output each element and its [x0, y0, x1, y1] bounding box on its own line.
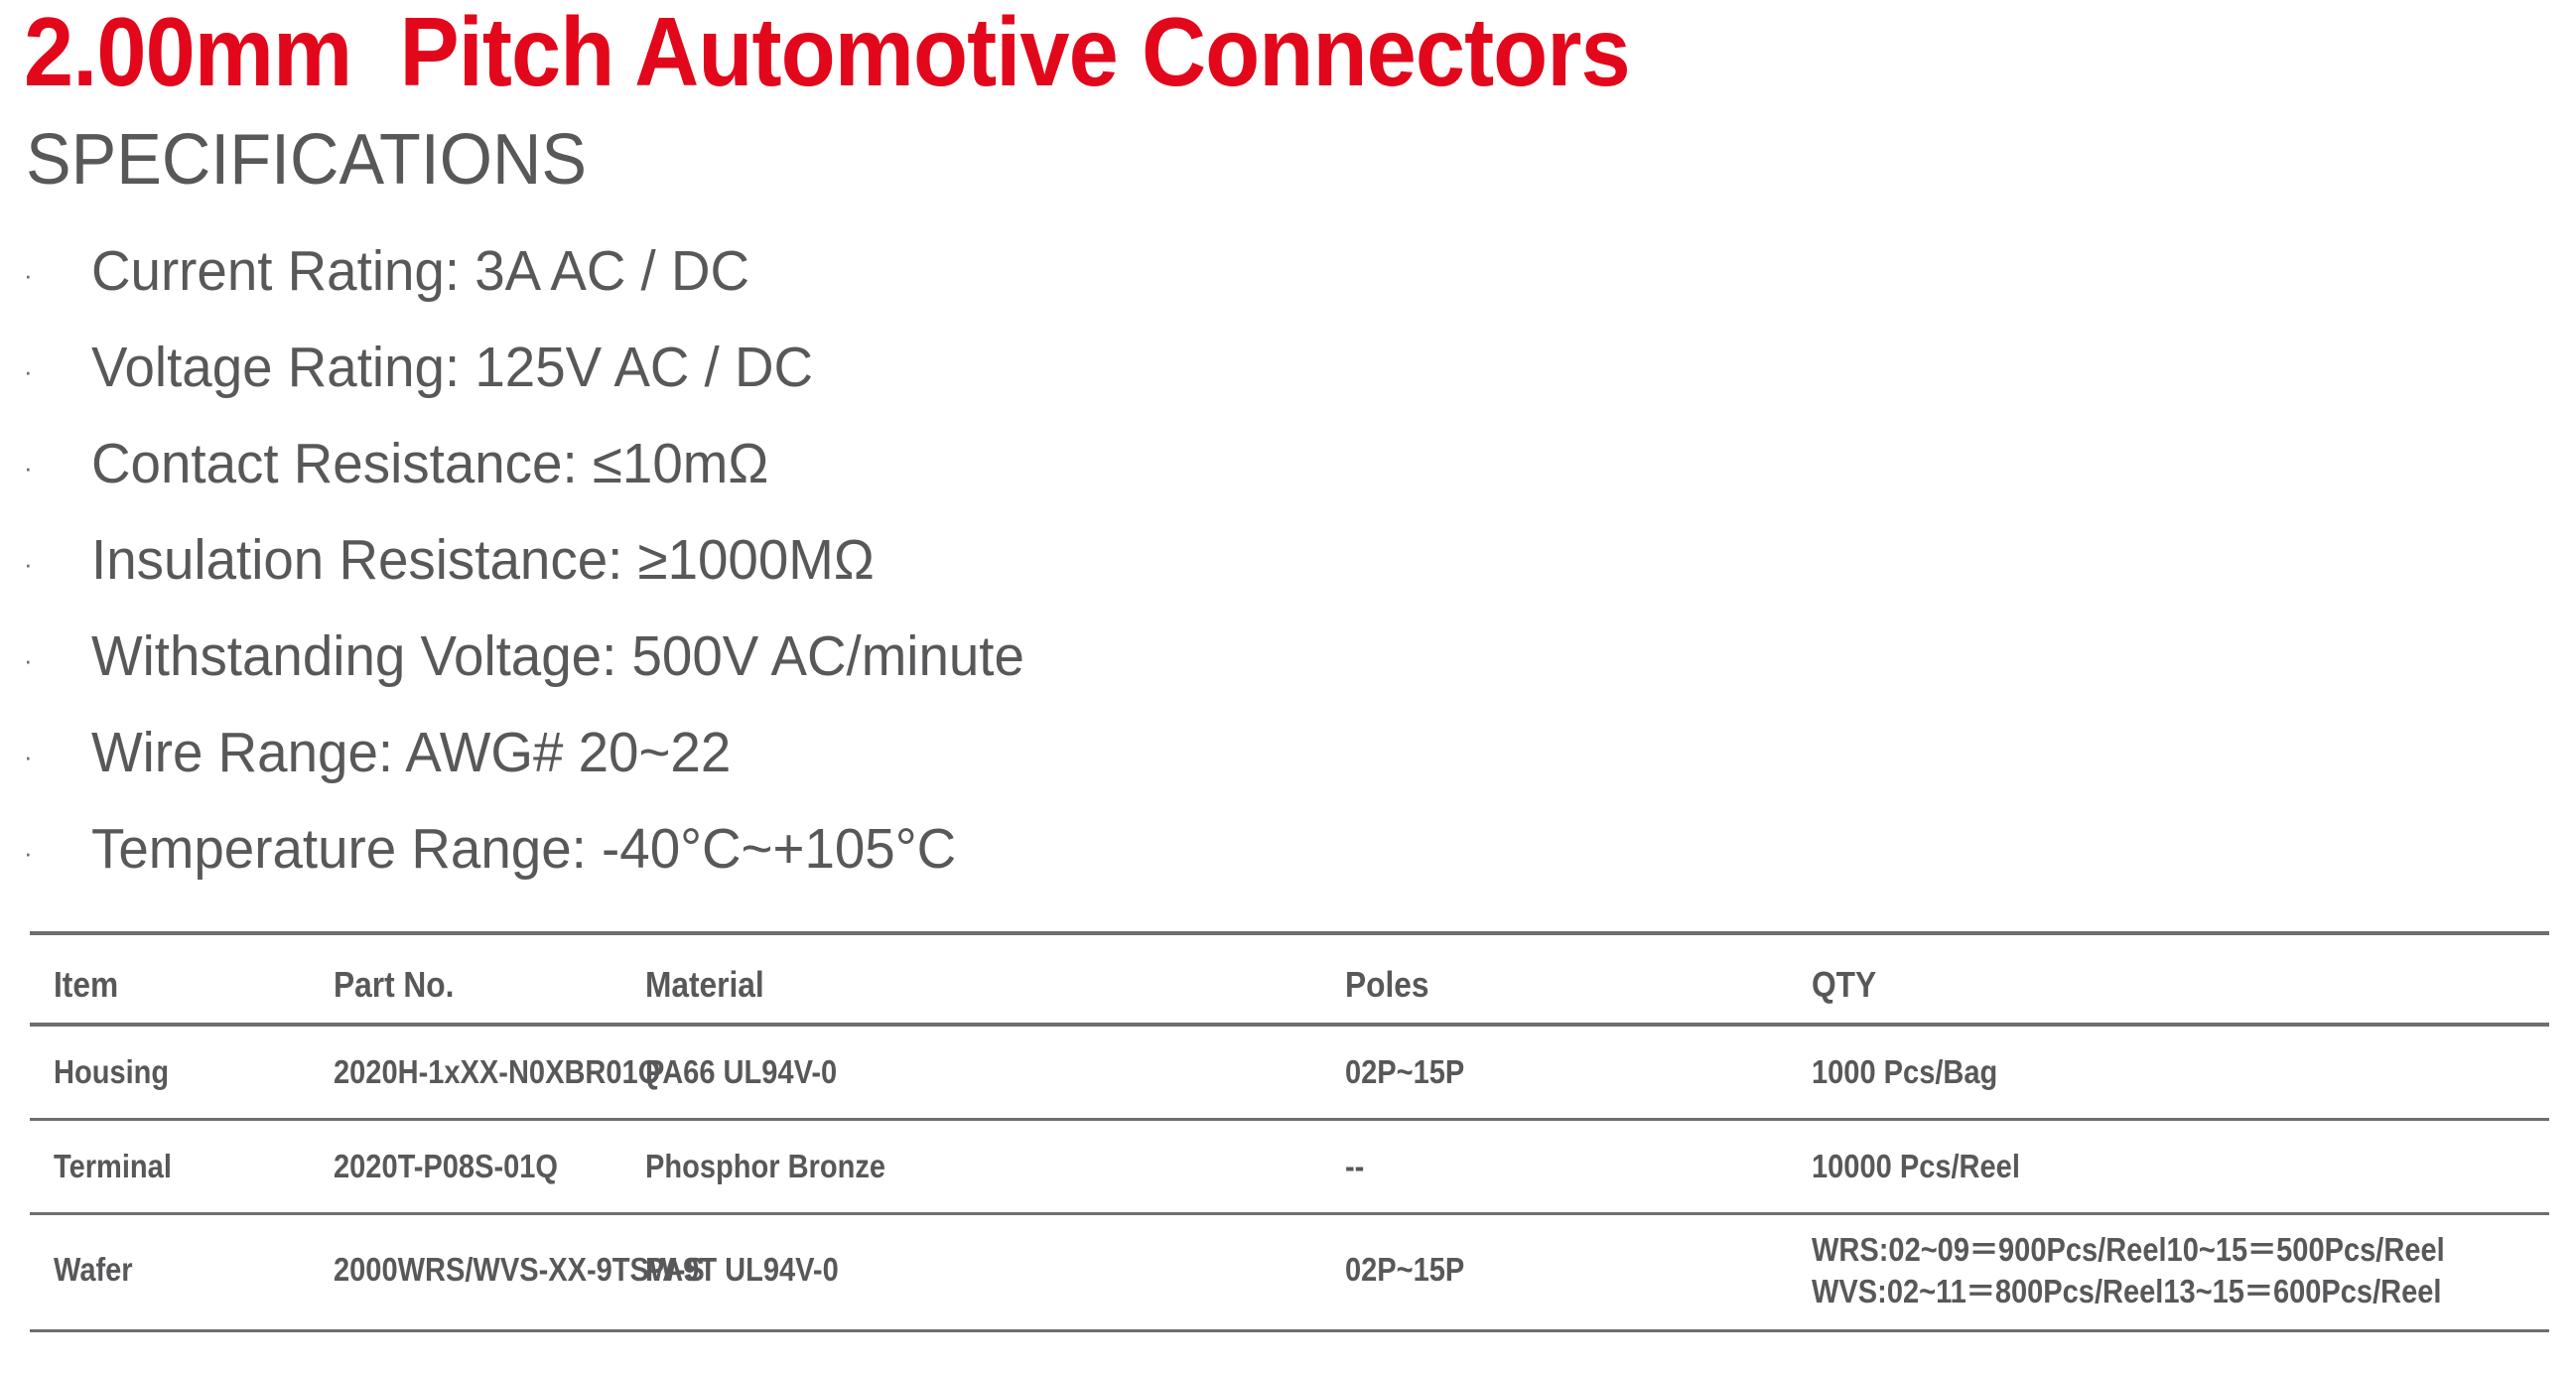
cell-part-no: 2020T-P08S-01Q [334, 1148, 558, 1185]
bullet-icon: · [24, 840, 44, 866]
table-row: Terminal 2020T-P08S-01Q Phosphor Bronze … [30, 1121, 2549, 1212]
bullet-icon: · [24, 744, 44, 769]
cell-material: PA9T UL94V-0 [645, 1251, 839, 1289]
bullet-icon: · [24, 262, 44, 288]
spec-item-temperature-range: · Temperature Range: -40°C~+105°C [0, 814, 2576, 910]
column-header-qty: QTY [1812, 965, 1876, 1005]
spec-item-label: Contact Resistance: ≤10mΩ [91, 429, 768, 498]
bullet-icon: · [24, 358, 44, 384]
spec-item-withstanding-voltage: · Withstanding Voltage: 500V AC/minute [0, 621, 2576, 718]
column-header-item: Item [54, 965, 118, 1005]
cell-material: Phosphor Bronze [645, 1148, 885, 1185]
cell-poles: 02P~15P [1345, 1251, 1464, 1289]
specifications-list: · Current Rating: 3A AC / DC · Voltage R… [0, 236, 2576, 910]
bullet-icon: · [24, 551, 44, 577]
cell-qty-line1: WRS:02~09＝900Pcs/Reel10~15＝500Pcs/Reel [1812, 1231, 2445, 1268]
table-row: Housing 2020H-1xXX-N0XBR01Q PA66 UL94V-0… [30, 1027, 2549, 1118]
bullet-icon: · [24, 647, 44, 673]
cell-material: PA66 UL94V-0 [645, 1053, 837, 1091]
spec-item-label: Withstanding Voltage: 500V AC/minute [91, 621, 1024, 691]
spec-item-insulation-resistance: · Insulation Resistance: ≥1000MΩ [0, 525, 2576, 621]
cell-qty: 10000 Pcs/Reel [1812, 1148, 2020, 1185]
cell-qty: WRS:02~09＝900Pcs/Reel10~15＝500Pcs/ReelWV… [1812, 1229, 2445, 1312]
table-header-row: Item Part No. Material Poles QTY [30, 935, 2549, 1023]
cell-poles: -- [1345, 1148, 1364, 1185]
cell-item: Housing [54, 1053, 169, 1091]
spec-item-contact-resistance: · Contact Resistance: ≤10mΩ [0, 429, 2576, 525]
spec-item-label: Current Rating: 3A AC / DC [91, 236, 749, 306]
spec-item-label: Voltage Rating: 125V AC / DC [91, 333, 813, 402]
cell-qty-line2: WVS:02~11＝800Pcs/Reel13~15＝600Pcs/Reel [1812, 1273, 2441, 1309]
column-header-material: Material [645, 965, 764, 1005]
table-rule-bottom [30, 1329, 2549, 1332]
table-row: Wafer 2000WRS/WVS-XX-9TSW-S PA9T UL94V-0… [30, 1215, 2549, 1329]
spec-item-label: Temperature Range: -40°C~+105°C [91, 814, 956, 884]
spec-item-wire-range: · Wire Range: AWG# 20~22 [0, 718, 2576, 814]
cell-item: Terminal [54, 1148, 172, 1185]
specifications-heading: SPECIFICATIONS [26, 119, 587, 201]
column-header-part-no: Part No. [334, 965, 454, 1005]
spec-item-voltage-rating: · Voltage Rating: 125V AC / DC [0, 333, 2576, 429]
cell-qty: 1000 Pcs/Bag [1812, 1053, 1997, 1091]
page-title: 2.00mm Pitch Automotive Connectors [24, 0, 1630, 107]
cell-poles: 02P~15P [1345, 1053, 1464, 1091]
parts-table: Item Part No. Material Poles QTY Housing… [30, 931, 2549, 1332]
spec-item-current-rating: · Current Rating: 3A AC / DC [0, 236, 2576, 333]
cell-item: Wafer [54, 1251, 133, 1289]
spec-item-label: Insulation Resistance: ≥1000MΩ [91, 525, 875, 595]
bullet-icon: · [24, 455, 44, 481]
cell-part-no: 2020H-1xXX-N0XBR01Q [334, 1053, 660, 1091]
spec-item-label: Wire Range: AWG# 20~22 [91, 718, 731, 787]
column-header-poles: Poles [1345, 965, 1429, 1005]
